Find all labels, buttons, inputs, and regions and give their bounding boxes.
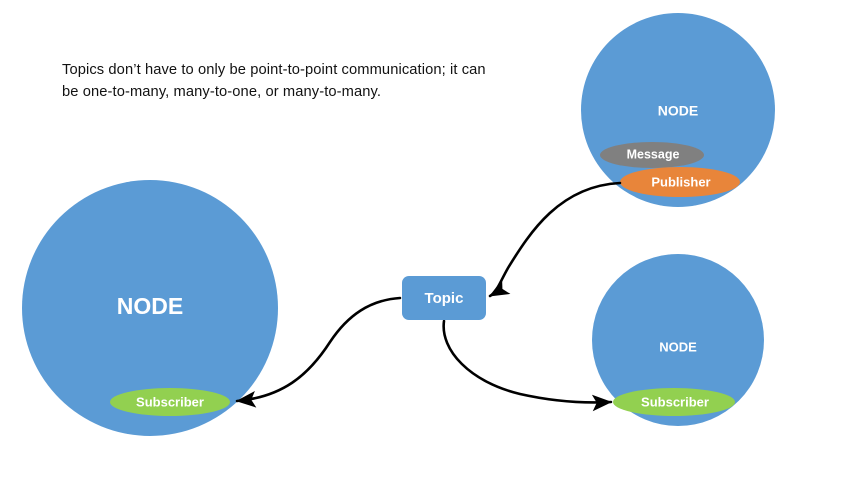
publisher-pill[interactable]: Publisher	[620, 167, 740, 197]
bottom-right-subscriber-label: Subscriber	[641, 394, 709, 409]
diagram-canvas: Topics don’t have to only be point-to-po…	[0, 0, 854, 480]
node-bottom-right[interactable]: NODE Subscriber	[592, 254, 764, 426]
message-pill[interactable]: Message	[600, 142, 704, 168]
node-top-right-label: NODE	[658, 103, 698, 119]
topic-box[interactable]: Topic	[402, 276, 486, 320]
edge-topic-to-bottom-right-subscriber	[444, 321, 611, 402]
publisher-label: Publisher	[651, 174, 710, 189]
node-bottom-right-label: NODE	[659, 339, 697, 354]
node-left-label: NODE	[117, 293, 183, 319]
left-subscriber-label: Subscriber	[136, 394, 204, 409]
message-label: Message	[627, 147, 680, 161]
bottom-right-subscriber-pill[interactable]: Subscriber	[613, 388, 735, 416]
ros-topic-diagram: NODE Subscriber NODE Message Publisher N…	[0, 0, 854, 480]
edge-publisher-to-topic	[490, 183, 620, 296]
left-subscriber-pill[interactable]: Subscriber	[110, 388, 230, 416]
topic-box-label: Topic	[425, 290, 464, 307]
node-top-right[interactable]: NODE Message Publisher	[581, 13, 775, 207]
node-left[interactable]: NODE Subscriber	[22, 180, 278, 436]
